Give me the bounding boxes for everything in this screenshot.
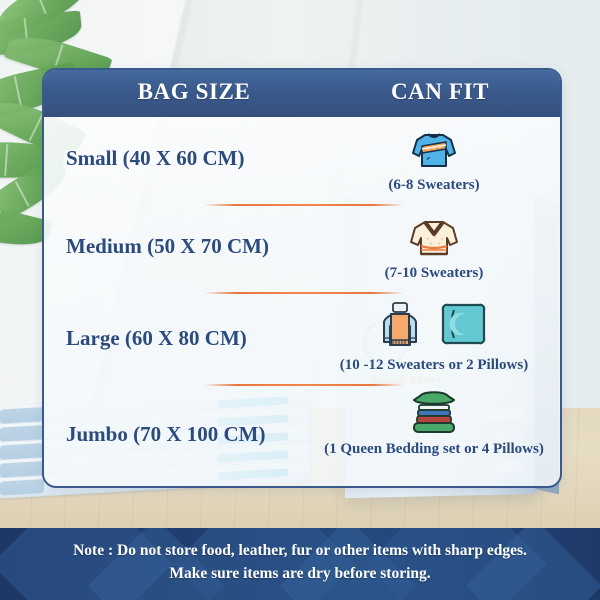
note-banner: Note : Do not store food, leather, fur o… [0,528,600,600]
bedding-stack-icon [404,386,464,443]
cream-sweater-icon [406,210,462,267]
fit-label: (6-8 Sweaters) [310,176,558,195]
table-row: Medium (50 X 70 CM) [44,206,560,298]
fit-icons [310,122,558,178]
bag-size-label: Medium (50 X 70 CM) [66,234,269,259]
bag-size-label: Jumbo (70 X 100 CM) [66,422,266,447]
table-row: Jumbo (70 X 100 CM) (1 Queen Bedding set… [44,386,560,484]
fit-icons [310,386,558,442]
fit-label: (10 -12 Sweaters or 2 Pillows) [310,356,558,375]
fit-icons [310,210,558,266]
orange-sweater-icon [377,298,423,357]
note-text: Note : Do not store food, leather, fur o… [0,539,600,586]
column-header-can-fit: CAN FIT [331,79,549,105]
infographic-stage: Storage Bags Vacuum Storage Bag Space Sa… [0,0,600,600]
note-line-2: Make sure items are dry before storing. [0,562,600,585]
table-header: BAG SIZE CAN FIT [43,69,561,117]
fit-icons [310,298,558,354]
bag-size-label: Small (40 X 60 CM) [66,146,244,171]
bag-size-label: Large (60 X 80 CM) [66,326,247,351]
table-row: Small (40 X 60 CM) [44,118,560,210]
table-row: Large (60 X 80 CM) [44,294,560,390]
table-body: Small (40 X 60 CM) [44,118,560,484]
fit-label: (7-10 Sweaters) [310,264,558,283]
bag-size-card: BAG SIZE CAN FIT Small (40 X 60 CM) [42,68,562,488]
note-line-1: Note : Do not store food, leather, fur o… [0,539,600,562]
teal-pillow-icon [435,298,491,357]
column-header-bag-size: BAG SIZE [69,79,319,105]
blue-sweater-icon [408,122,460,179]
fit-label: (1 Queen Bedding set or 4 Pillows) [310,440,558,459]
